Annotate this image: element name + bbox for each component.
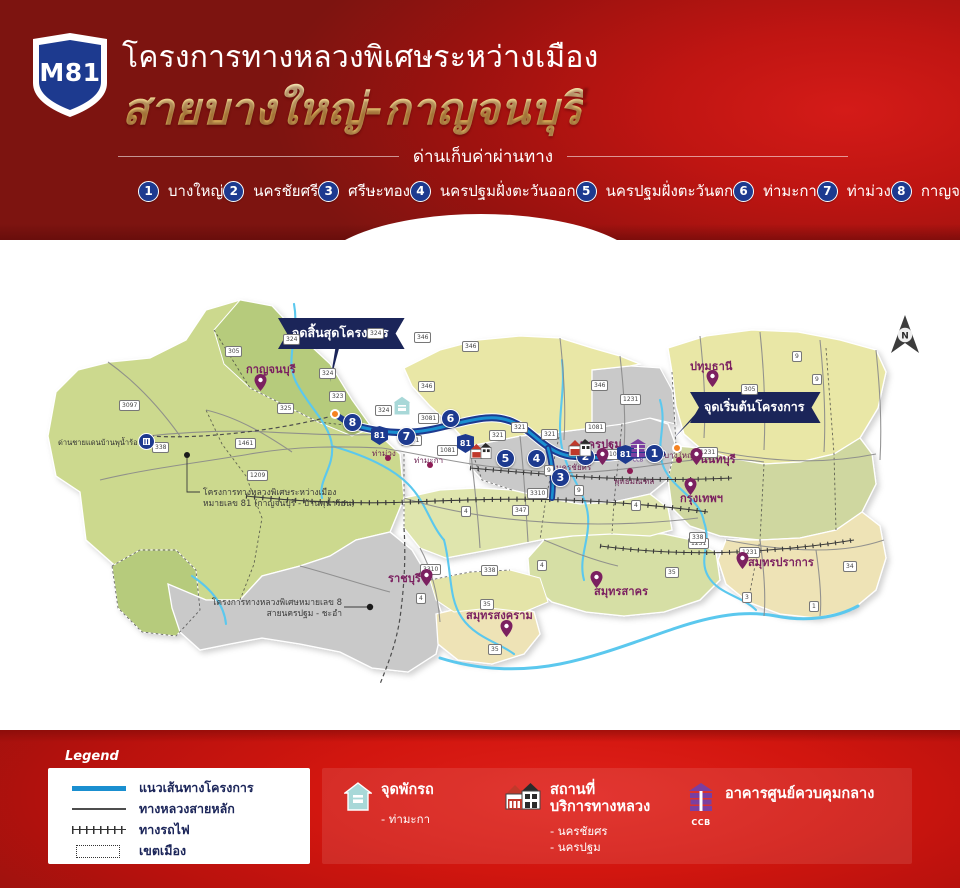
legend-label: ทางรถไฟ	[139, 820, 190, 840]
map-pin-icon	[706, 370, 719, 387]
note-m81-line2: หมายเลข 81 (กาญจนบุรี - บ้านพุน้ำร้อน)	[203, 499, 355, 510]
ccb-building-icon: CCB	[628, 438, 648, 462]
note-m81-extension: โครงการทางหลวงพิเศษระหว่างเมือง หมายเลข …	[203, 488, 355, 511]
map-pin-icon	[736, 552, 749, 569]
highway-badge: 305	[741, 384, 758, 395]
highway-badge: 325	[277, 403, 294, 414]
ccb-caption: CCB	[686, 818, 716, 827]
map-toll-marker-4[interactable]: 4	[527, 449, 546, 468]
facility-title-line1: สถานที่	[550, 782, 650, 799]
highway-badge: 4	[631, 500, 641, 511]
main-highway-line-icon	[70, 803, 128, 815]
service-area-icon	[470, 442, 492, 460]
map-toll-marker-8[interactable]: 8	[343, 413, 362, 432]
divider-right	[567, 156, 848, 157]
toll-section-title: ด่านเก็บค่าผ่านทาง	[413, 143, 553, 170]
toll-gate-number: 4	[410, 181, 431, 202]
highway-badge: 324	[367, 328, 384, 339]
legend-box: แนวเส้นทางโครงการ ทางหลวงสายหลัก ทางรถไฟ…	[48, 768, 310, 864]
toll-gate-item-2[interactable]: 2 นครชัยศรี	[223, 176, 318, 206]
highway-badge: 338	[689, 532, 706, 543]
highway-badge: 35	[488, 644, 502, 655]
facility-title: จุดพักรถ	[381, 782, 434, 799]
highway-badge: 324	[319, 368, 336, 379]
highway-badge: 1	[809, 601, 819, 612]
highway-badge: 338	[481, 565, 498, 576]
map-toll-marker-5[interactable]: 5	[496, 449, 515, 468]
toll-gate-number: 7	[817, 181, 838, 202]
highway-badge: 346	[591, 380, 608, 391]
header-title-line2: สายบางใหญ่-กาญจนบุรี	[122, 74, 583, 144]
highway-badge: 3310	[527, 488, 548, 499]
map-pin-icon	[684, 478, 697, 495]
railway-line-icon	[70, 824, 128, 836]
legend-item-railway: ทางรถไฟ	[70, 819, 310, 840]
district-label-phutthamonthon: พุทธมณฑล	[614, 475, 654, 488]
legend-label: แนวเส้นทางโครงการ	[139, 778, 254, 798]
highway-badge: 35	[480, 599, 494, 610]
map-pin-icon	[596, 448, 609, 465]
map-pin-icon	[590, 571, 603, 588]
toll-gate-item-3[interactable]: 3 ศรีษะทอง	[318, 176, 410, 206]
highway-badge: 324	[375, 405, 392, 416]
m81-shield-label: M81	[27, 31, 113, 119]
facility-title-line2: บริการทางหลวง	[550, 799, 650, 816]
legend-label: เขตเมือง	[139, 841, 186, 861]
toll-gate-label: กาญจนบุรี	[921, 179, 960, 203]
toll-gate-item-4[interactable]: 4 นครปฐมฝั่งตะวันออก	[410, 176, 576, 206]
map-pin-icon	[420, 569, 433, 586]
infographic-page: M81 โครงการทางหลวงพิเศษระหว่างเมือง สายบ…	[0, 0, 960, 888]
map-toll-marker-3[interactable]: 3	[551, 468, 570, 487]
svg-text:N: N	[901, 332, 909, 342]
highway-badge: 1081	[437, 445, 458, 456]
legend-item-city-boundary: เขตเมือง	[70, 840, 310, 861]
toll-gate-label: นครปฐมฝั่งตะวันออก	[440, 179, 576, 203]
toll-gate-label: ท่ามะกา	[763, 179, 817, 203]
divider-left	[118, 156, 399, 157]
facility-rest-area: จุดพักรถ - ท่ามะกา	[344, 782, 434, 828]
district-dot	[627, 468, 633, 474]
highway-badge: 321	[511, 422, 528, 433]
toll-gate-number: 6	[733, 181, 754, 202]
map-pin-icon	[690, 448, 703, 465]
district-dot	[676, 457, 682, 463]
note-m8-project: โครงการทางหลวงพิเศษหมายเลข 8 สายนครปฐม -…	[150, 598, 342, 621]
highway-badge: 323	[329, 391, 346, 402]
toll-gate-number: 2	[223, 181, 244, 202]
highway-badge: 4	[416, 593, 426, 604]
highway-badge: 4	[537, 560, 547, 571]
toll-gate-label: นครชัยศรี	[253, 179, 318, 203]
rest-area-icon	[344, 782, 372, 812]
border-checkpoint-label: ด่านชายแดนบ้านพุน้ำร้อน	[58, 438, 143, 448]
facility-title: อาคารศูนย์ควบคุมกลาง	[725, 782, 874, 803]
highway-badge: 1209	[247, 470, 268, 481]
project-end-dot	[330, 409, 340, 419]
highway-badge: 1231	[620, 394, 641, 405]
highway-badge: 9	[812, 374, 822, 385]
legend-item-main-highway: ทางหลวงสายหลัก	[70, 798, 310, 819]
highway-badge: 1461	[235, 438, 256, 449]
highway-badge: 9	[574, 485, 584, 496]
project-start-dot	[672, 443, 682, 453]
toll-gate-item-1[interactable]: 1 บางใหญ่	[138, 176, 223, 206]
note-m8-line2: สายนครปฐม - ชะอำ	[150, 609, 342, 620]
compass-north-icon: N	[888, 313, 922, 357]
svg-text:CCB: CCB	[633, 458, 644, 463]
legend-label: ทางหลวงสายหลัก	[139, 799, 235, 819]
callout-project-start: จุดเริ่มต้นโครงการ	[690, 392, 821, 423]
highway-badge: 4	[461, 506, 471, 517]
toll-gate-number: 8	[891, 181, 912, 202]
m81-shield-icon: M81	[27, 31, 113, 119]
highway-badge: 346	[414, 332, 431, 343]
district-dot	[427, 462, 433, 468]
facility-item: - นครชัยศร	[550, 823, 650, 840]
ccb-building-icon: CCB	[686, 782, 716, 827]
toll-gate-item-6[interactable]: 6 ท่ามะกา	[733, 176, 817, 206]
legend-item-route: แนวเส้นทางโครงการ	[70, 777, 310, 798]
highway-badge: 1081	[585, 422, 606, 433]
highway-badge: 9	[792, 351, 802, 362]
toll-gate-label: นครปฐมฝั่งตะวันตก	[606, 179, 733, 203]
note-m81-line1: โครงการทางหลวงพิเศษระหว่างเมือง	[203, 488, 355, 499]
toll-gate-label: บางใหญ่	[168, 179, 223, 203]
district-label-thamuang: ท่าม่วง	[372, 447, 396, 460]
district-dot	[385, 455, 391, 461]
map-pin-icon	[254, 374, 267, 391]
facility-item: - ท่ามะกา	[381, 811, 434, 828]
highway-badge: 321	[541, 429, 558, 440]
header-banner: M81 โครงการทางหลวงพิเศษระหว่างเมือง สายบ…	[0, 0, 960, 240]
highway-badge: 35	[665, 567, 679, 578]
highway-badge: 3	[742, 592, 752, 603]
map-geography	[0, 240, 960, 730]
toll-gate-item-5[interactable]: 5 นครปฐมฝั่งตะวันตก	[576, 176, 733, 206]
facility-item: - นครปฐม	[550, 839, 650, 856]
highway-badge: 346	[418, 381, 435, 392]
route-line-icon	[70, 782, 128, 794]
toll-gate-item-8[interactable]: 8 กาญจนบุรี	[891, 176, 960, 206]
province-label-ratchaburi: ราชบุรี	[388, 569, 421, 587]
legend-title: Legend	[65, 749, 119, 764]
map-pin-icon	[500, 620, 513, 637]
service-area-icon	[568, 438, 592, 458]
highway-badge: 305	[225, 346, 242, 357]
map-toll-marker-7[interactable]: 7	[397, 427, 416, 446]
toll-gate-list: 1 บางใหญ่ 2 นครชัยศรี 3 ศรีษะทอง 4 นครปฐ…	[138, 176, 878, 206]
map-canvas[interactable]: จุดสิ้นสุดโครงการ จุดเริ่มต้นโครงการ กาญ…	[0, 240, 960, 730]
highway-badge: 324	[283, 334, 300, 345]
highway-badge: 3097	[119, 400, 140, 411]
toll-gate-number: 1	[138, 181, 159, 202]
note-m8-line1: โครงการทางหลวงพิเศษหมายเลข 8	[150, 598, 342, 609]
toll-gate-label: ศรีษะทอง	[348, 179, 410, 203]
toll-gate-label: ท่าม่วง	[847, 179, 891, 203]
highway-badge: 347	[512, 505, 529, 516]
highway-badge: 34	[843, 561, 857, 572]
facility-service-area: สถานที่ บริการทางหลวง - นครชัยศร - นครปฐ…	[505, 782, 650, 856]
toll-section-header: ด่านเก็บค่าผ่านทาง	[118, 145, 848, 167]
highway-badge: 3081	[418, 413, 439, 424]
highway-badge: 321	[489, 430, 506, 441]
rest-area-icon	[391, 395, 413, 417]
toll-gate-number: 3	[318, 181, 339, 202]
facility-ccb: CCB อาคารศูนย์ควบคุมกลาง	[686, 782, 874, 827]
toll-gate-item-7[interactable]: 7 ท่าม่วง	[817, 176, 891, 206]
map-toll-marker-6[interactable]: 6	[441, 409, 460, 428]
highway-badge: 346	[462, 341, 479, 352]
border-gate-icon	[138, 433, 155, 450]
toll-gate-number: 5	[576, 181, 597, 202]
city-boundary-icon	[70, 845, 128, 857]
service-area-icon	[505, 782, 541, 812]
